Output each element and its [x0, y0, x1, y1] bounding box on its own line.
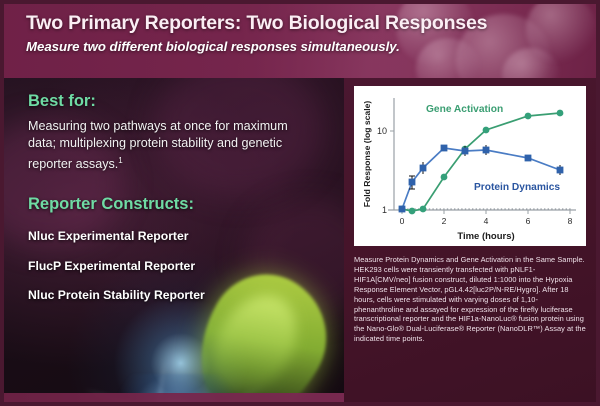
page-title: Two Primary Reporters: Two Biological Re… [26, 12, 487, 35]
y-tick-1: 1 [382, 205, 387, 215]
gene-activation-point [420, 206, 427, 213]
x-tick-0: 0 [400, 216, 405, 226]
best-for-heading: Best for: [28, 92, 344, 111]
gene-activation-point [409, 208, 416, 215]
protein-dynamics-point [462, 148, 469, 155]
x-tick-6: 6 [526, 216, 531, 226]
gene-activation-point [441, 174, 448, 181]
x-tick-2: 2 [442, 216, 447, 226]
y-tick-10: 10 [377, 126, 387, 136]
gene-activation-point [483, 127, 490, 134]
x-axis-title: Time (hours) [457, 231, 514, 242]
annotation-protein-dynamics: Protein Dynamics [474, 182, 560, 193]
best-for-footnote-marker: 1 [118, 156, 122, 165]
fold-response-line-chart: 10 1 0 2 4 6 [354, 86, 586, 246]
best-for-text: Measuring two pathways at once for maxim… [28, 118, 300, 173]
construct-item-nluc-experimental: Nluc Experimental Reporter [28, 229, 228, 244]
protein-dynamics-point [441, 145, 448, 152]
y-axis-title: Fold Response (log scale) [362, 101, 372, 208]
left-panel-content: Best for: Measuring two pathways at once… [4, 78, 344, 303]
protein-dynamics-point [399, 206, 406, 213]
protein-dynamics-point [525, 155, 532, 162]
reporter-constructs-heading: Reporter Constructs: [28, 195, 344, 214]
right-panel: 10 1 0 2 4 6 [344, 78, 596, 402]
construct-item-flucp-experimental: FlucP Experimental Reporter [28, 259, 228, 274]
gene-activation-point [525, 113, 532, 120]
x-tick-4: 4 [484, 216, 489, 226]
left-panel: Best for: Measuring two pathways at once… [4, 78, 344, 402]
best-for-body-text: Measuring two pathways at once for maxim… [28, 119, 288, 171]
x-tick-8: 8 [568, 216, 573, 226]
construct-item-nluc-protein-stability: Nluc Protein Stability Reporter [28, 288, 228, 303]
poster-header: Two Primary Reporters: Two Biological Re… [4, 4, 596, 78]
protein-dynamics-point [420, 165, 427, 172]
figure-caption: Measure Protein Dynamics and Gene Activa… [354, 255, 586, 344]
annotation-gene-activation: Gene Activation [426, 104, 503, 115]
poster-body: Best for: Measuring two pathways at once… [4, 78, 596, 402]
chart-card: 10 1 0 2 4 6 [354, 86, 586, 246]
protein-dynamics-point [557, 167, 564, 174]
protein-dynamics-point [483, 147, 490, 154]
protein-dynamics-point [409, 179, 416, 186]
gene-activation-point [557, 110, 564, 117]
left-panel-bottom-bar [4, 393, 344, 402]
page-subtitle: Measure two different biological respons… [26, 39, 487, 54]
poster-root: Two Primary Reporters: Two Biological Re… [0, 0, 600, 406]
